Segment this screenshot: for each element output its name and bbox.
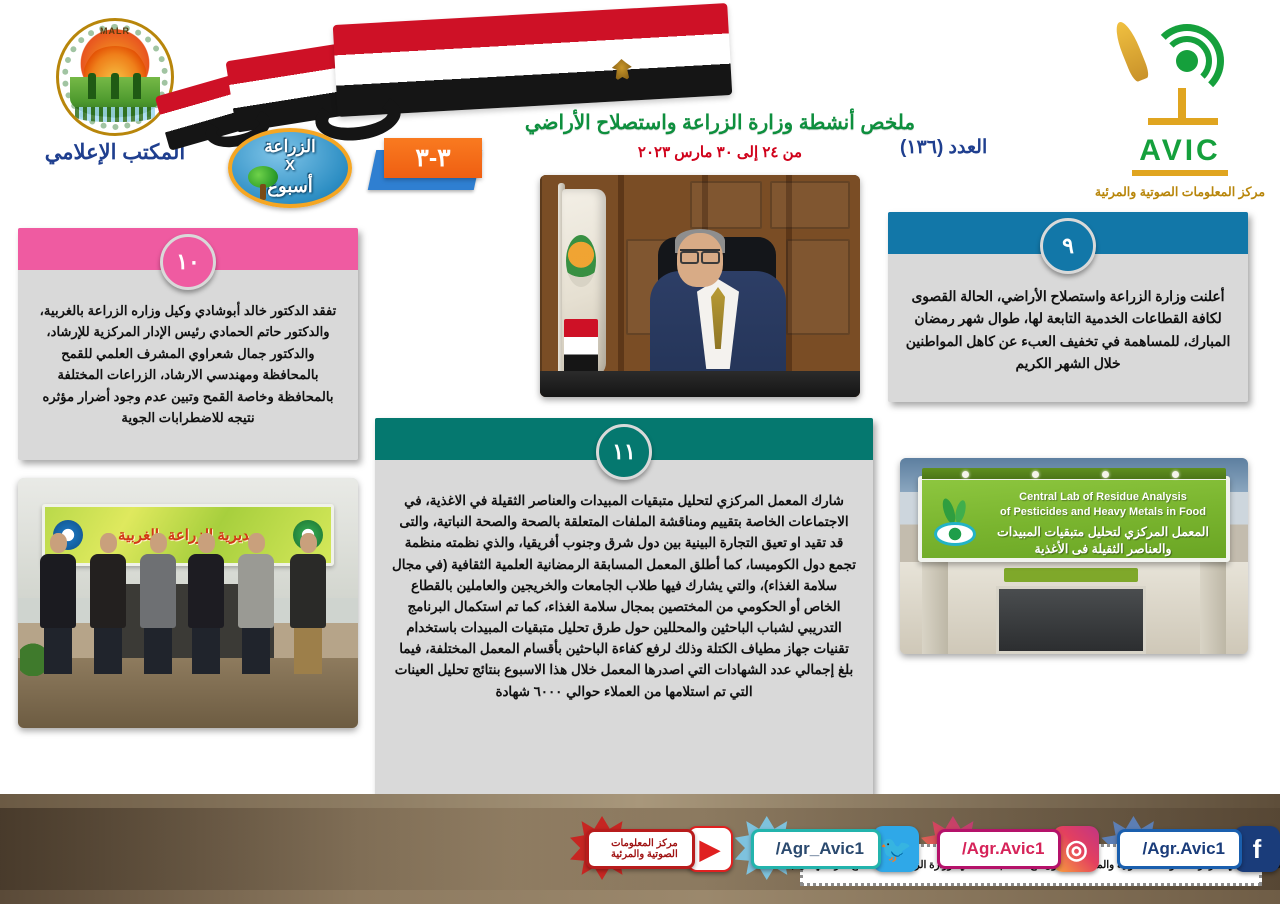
lab-sign-en-line1: Central Lab of Residue Analysis xyxy=(986,490,1220,505)
card-9-text: أعلنت وزارة الزراعة واستصلاح الأراضي، ال… xyxy=(888,254,1248,387)
person-figure xyxy=(90,533,126,674)
person-figure xyxy=(290,533,326,674)
ministry-seal-icon: MALR xyxy=(56,18,174,136)
lab-sign-arabic: المعمل المركزي لتحليل متبقيات المبيدات و… xyxy=(986,524,1220,558)
avic-caption: مركز المعلومات الصوتية والمرئية xyxy=(1092,184,1268,199)
card-10-text: تفقد الدكتور خالد أبوشادي وكيل وزاره الز… xyxy=(18,270,358,440)
lab-sign-en-line2: of Pesticides and Heavy Metals in Food xyxy=(986,505,1220,520)
central-lab-photo: Central Lab of Residue Analysis of Pesti… xyxy=(900,458,1248,654)
card-9-header: ٩ xyxy=(888,212,1248,254)
lab-sign-english: Central Lab of Residue Analysis of Pesti… xyxy=(986,490,1220,520)
tree-icon xyxy=(248,166,278,200)
header: MALR المكتب الإعلامي الزراعة X أسبوع xyxy=(0,0,1280,200)
news-card-9: ٩ أعلنت وزارة الزراعة واستصلاح الأراضي، … xyxy=(888,212,1248,402)
person-figure xyxy=(140,533,176,674)
card-10-header: ١٠ xyxy=(18,228,358,270)
avic-mark-icon xyxy=(1092,14,1268,136)
person-figure xyxy=(188,533,224,674)
glasses-icon xyxy=(680,249,720,259)
issue-number: العدد (١٣٦) xyxy=(900,136,987,159)
avic-abbr: AVIC xyxy=(1092,136,1268,166)
lab-signboard: Central Lab of Residue Analysis of Pesti… xyxy=(918,476,1230,562)
agriculture-week-badge: الزراعة X أسبوع xyxy=(228,128,352,208)
youtube-handle-line1: مركز المعلومات xyxy=(611,838,678,850)
week-badge-line1: الزراعة xyxy=(232,137,348,157)
twitter-handle[interactable]: /Agr_Avic1 xyxy=(751,829,881,869)
avic-logo: AVIC مركز المعلومات الصوتية والمرئية xyxy=(1092,14,1268,199)
card-11-header: ١١ xyxy=(375,418,873,460)
lab-sign-ar-line1: المعمل المركزي لتحليل متبقيات المبيدات xyxy=(986,524,1220,541)
facebook-handle[interactable]: /Agr.Avic1 xyxy=(1117,829,1242,869)
card-11-text: شارك المعمل المركزي لتحليل متبقيات المبي… xyxy=(375,460,873,712)
youtube-handle-line2: الصوتية والمرئية xyxy=(611,849,678,861)
instagram-link[interactable]: ◎ /Agr.Avic1 xyxy=(937,824,1100,874)
footer: f /Agr.Avic1 ◎ /Agr.Avic1 🐦 /Agr_Avic1 ▶… xyxy=(0,794,1280,904)
minister-photo xyxy=(540,175,860,397)
instagram-handle[interactable]: /Agr.Avic1 xyxy=(937,829,1062,869)
ministry-flag-icon xyxy=(554,183,608,389)
twitter-link[interactable]: 🐦 /Agr_Avic1 xyxy=(751,824,919,874)
facebook-link[interactable]: f /Agr.Avic1 xyxy=(1117,824,1280,874)
person-figure xyxy=(40,533,76,674)
card-9-number: ٩ xyxy=(1040,218,1096,274)
news-card-10: ١٠ تفقد الدكتور خالد أبوشادي وكيل وزاره … xyxy=(18,228,358,460)
acrp-logo-icon xyxy=(928,496,982,554)
page-title: ملخص أنشطة وزارة الزراعة واستصلاح الأراض… xyxy=(420,110,1020,135)
card-11-number: ١١ xyxy=(596,424,652,480)
news-card-11: ١١ شارك المعمل المركزي لتحليل متبقيات ال… xyxy=(375,418,873,796)
youtube-handle[interactable]: مركز المعلومات الصوتية والمرئية xyxy=(586,829,695,869)
infographic-page: MALR المكتب الإعلامي الزراعة X أسبوع xyxy=(0,0,1280,904)
person-figure xyxy=(238,533,274,674)
gharbia-directorate-photo: مديرية الزراعة بالغربية xyxy=(18,478,358,728)
lab-sign-ar-line2: والعناصر الثقيلة فى الأغذية xyxy=(986,541,1220,558)
card-10-number: ١٠ xyxy=(160,234,216,290)
youtube-link[interactable]: ▶ مركز المعلومات الصوتية والمرئية xyxy=(586,824,733,874)
malr-abbr: MALR xyxy=(59,26,171,36)
